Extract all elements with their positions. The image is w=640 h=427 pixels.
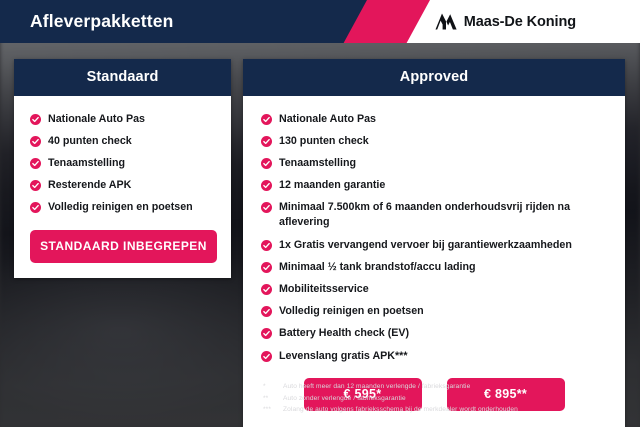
brand-name: Maas-De Koning xyxy=(464,14,576,30)
footnote-text: Zolang de auto volgens fabrieksschema bi… xyxy=(283,404,518,416)
check-circle-icon xyxy=(261,136,272,147)
footnote-2: ** Auto zonder verlengde / fabrieksgaran… xyxy=(263,393,633,405)
check-circle-icon xyxy=(261,306,272,317)
card-body-approved: Nationale Auto Pas 130 punten check Tena… xyxy=(243,96,625,427)
check-circle-icon xyxy=(30,158,41,169)
check-circle-icon xyxy=(261,114,272,125)
feature-label: Minimaal ½ tank brandstof/accu lading xyxy=(279,260,476,275)
list-item: Tenaamstelling xyxy=(243,152,625,174)
list-item: Resterende APK xyxy=(14,175,231,197)
feature-label: Volledig reinigen en poetsen xyxy=(48,200,193,215)
feature-label: Tenaamstelling xyxy=(48,156,125,171)
footnote-marker: * xyxy=(263,381,277,393)
footnote-marker: *** xyxy=(263,404,277,416)
check-circle-icon xyxy=(261,262,272,273)
check-circle-icon xyxy=(261,180,272,191)
feature-label: 40 punten check xyxy=(48,134,132,149)
list-item: 1x Gratis vervangend vervoer bij garanti… xyxy=(243,234,625,256)
page-title: Afleverpakketten xyxy=(30,0,173,43)
footnotes: * Auto heeft meer dan 12 maanden verleng… xyxy=(263,381,633,416)
list-item: 12 maanden garantie xyxy=(243,175,625,197)
feature-label: Volledig reinigen en poetsen xyxy=(279,304,424,319)
feature-label: Nationale Auto Pas xyxy=(48,112,145,127)
header-bar: Afleverpakketten Maas-De Koning xyxy=(0,0,640,43)
list-item: Minimaal ½ tank brandstof/accu lading xyxy=(243,256,625,278)
card-title-standaard: Standaard xyxy=(14,59,231,96)
list-item: Battery Health check (EV) xyxy=(243,323,625,345)
feature-label: 12 maanden garantie xyxy=(279,178,385,193)
feature-list-approved: Nationale Auto Pas 130 punten check Tena… xyxy=(243,108,625,367)
feature-label: 130 punten check xyxy=(279,134,369,149)
maas-de-koning-m-logo-icon xyxy=(435,13,457,30)
list-item: Nationale Auto Pas xyxy=(14,108,231,130)
feature-label: Resterende APK xyxy=(48,178,131,193)
package-card-approved: Approved Nationale Auto Pas 130 punten c… xyxy=(243,59,625,427)
check-circle-icon xyxy=(261,328,272,339)
card-body-standaard: Nationale Auto Pas 40 punten check Tenaa… xyxy=(14,96,231,278)
list-item: Mobiliteitsservice xyxy=(243,279,625,301)
list-item: 40 punten check xyxy=(14,130,231,152)
check-circle-icon xyxy=(261,202,272,213)
check-circle-icon xyxy=(261,284,272,295)
footnote-marker: ** xyxy=(263,393,277,405)
footnote-text: Auto heeft meer dan 12 maanden verlengde… xyxy=(283,381,470,393)
check-circle-icon xyxy=(261,240,272,251)
list-item: Tenaamstelling xyxy=(14,152,231,174)
check-circle-icon xyxy=(30,114,41,125)
standaard-cta-wrap: STANDAARD INBEGREPEN xyxy=(14,219,231,265)
list-item: Volledig reinigen en poetsen xyxy=(243,301,625,323)
feature-label: Mobiliteitsservice xyxy=(279,282,369,297)
feature-list-standaard: Nationale Auto Pas 40 punten check Tenaa… xyxy=(14,108,231,219)
list-item: Nationale Auto Pas xyxy=(243,108,625,130)
check-circle-icon xyxy=(261,158,272,169)
list-item: Volledig reinigen en poetsen xyxy=(14,197,231,219)
check-circle-icon xyxy=(30,180,41,191)
card-title-approved: Approved xyxy=(243,59,625,96)
feature-label: Minimaal 7.500km of 6 maanden onderhouds… xyxy=(279,200,609,230)
check-circle-icon xyxy=(30,136,41,147)
brand-logo: Maas-De Koning xyxy=(435,0,576,43)
list-item: 130 punten check xyxy=(243,130,625,152)
list-item: Minimaal 7.500km of 6 maanden onderhouds… xyxy=(243,197,625,234)
feature-label: 1x Gratis vervangend vervoer bij garanti… xyxy=(279,238,572,253)
feature-label: Levenslang gratis APK*** xyxy=(279,349,408,364)
feature-label: Nationale Auto Pas xyxy=(279,112,376,127)
footnote-3: *** Zolang de auto volgens fabrieksschem… xyxy=(263,404,633,416)
standaard-inbegrepen-button[interactable]: STANDAARD INBEGREPEN xyxy=(30,230,217,263)
package-card-standaard: Standaard Nationale Auto Pas 40 punten c… xyxy=(14,59,231,278)
feature-label: Tenaamstelling xyxy=(279,156,356,171)
check-circle-icon xyxy=(261,351,272,362)
footnote-1: * Auto heeft meer dan 12 maanden verleng… xyxy=(263,381,633,393)
slide-root: Afleverpakketten Maas-De Koning Standaar… xyxy=(0,0,640,427)
footnote-text: Auto zonder verlengde / fabrieksgarantie xyxy=(283,393,406,405)
feature-label: Battery Health check (EV) xyxy=(279,326,409,341)
check-circle-icon xyxy=(30,202,41,213)
list-item: Levenslang gratis APK*** xyxy=(243,345,625,367)
